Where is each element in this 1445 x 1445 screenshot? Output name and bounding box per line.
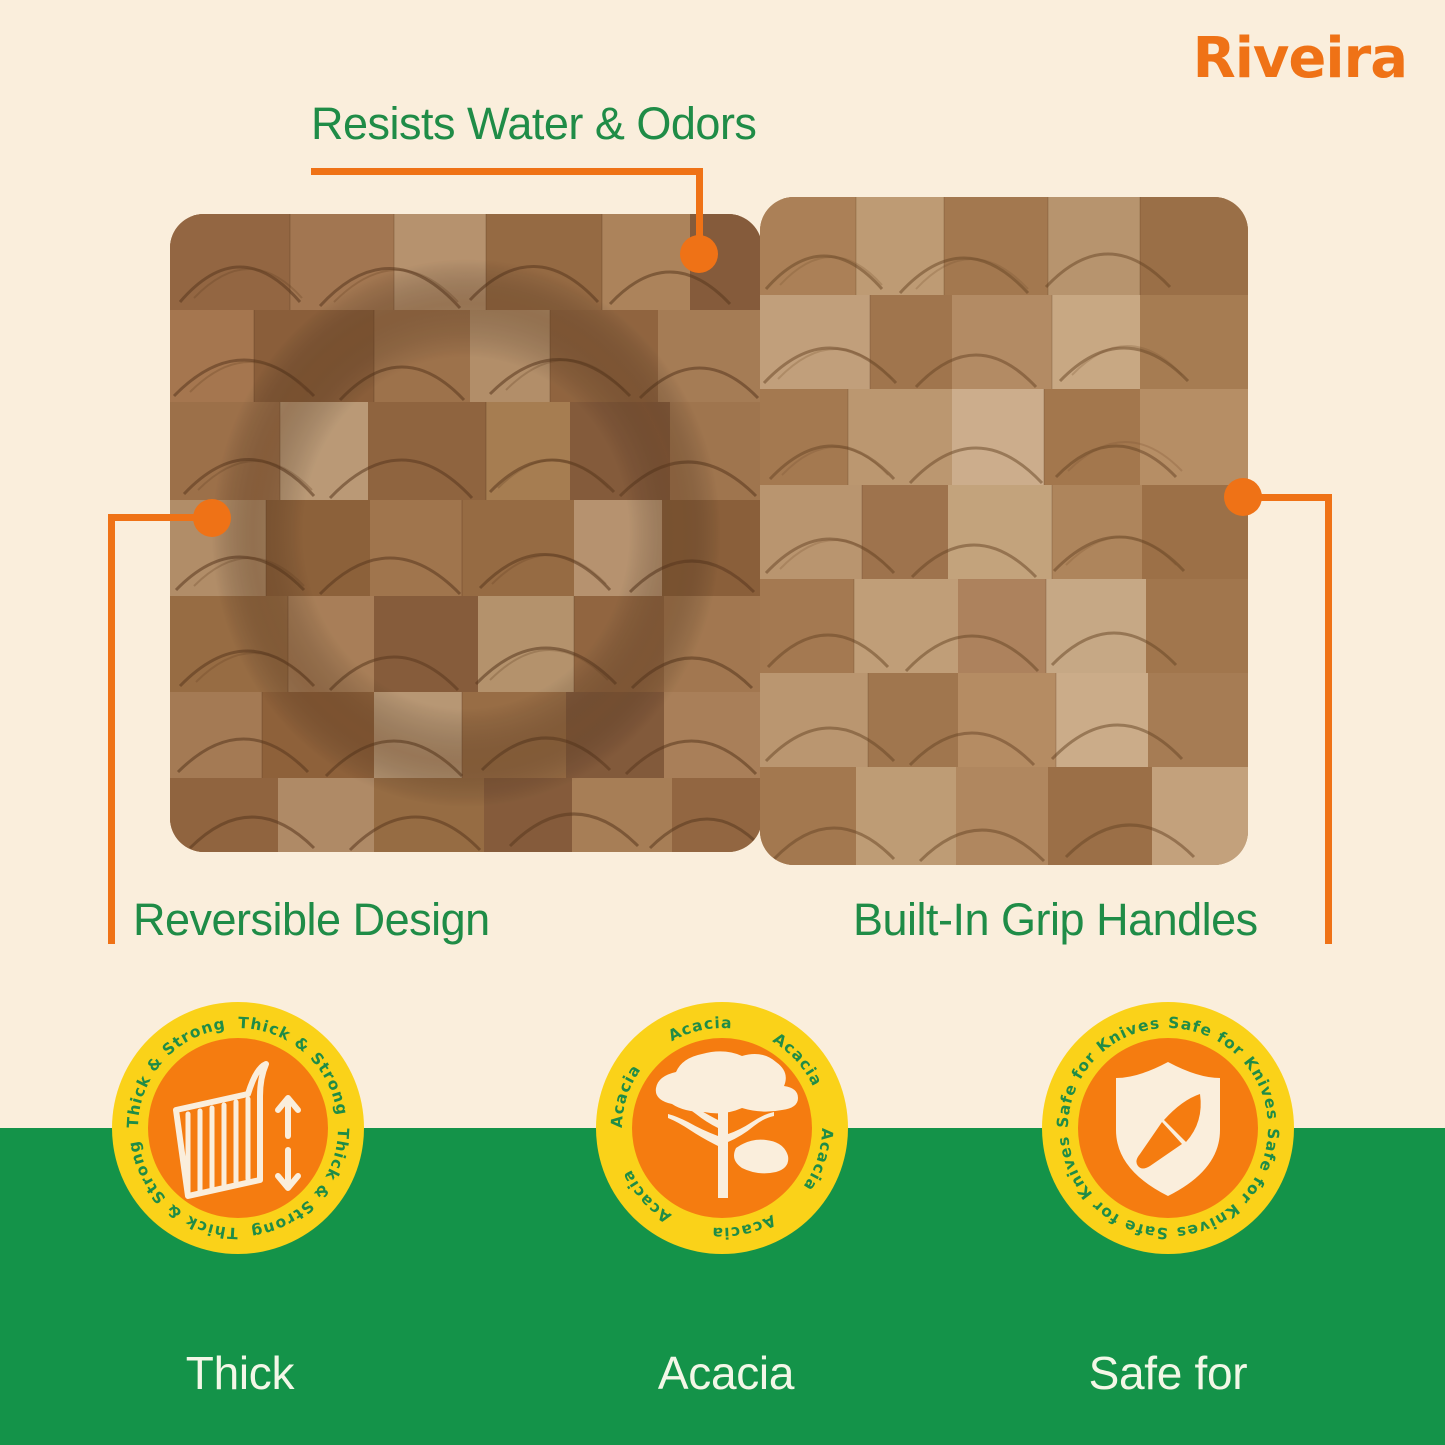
badge-caption-acacia-wood: Acacia Wood (546, 1285, 906, 1445)
acacia-tree-icon (632, 1038, 812, 1218)
badge-inner-disc (148, 1038, 328, 1218)
badge-acacia-wood: Acacia Acacia Acacia Acacia Acacia Acaci… (596, 1002, 848, 1254)
badge-thick-strong: Thick & Strong Thick & Strong Thick & St… (112, 1002, 364, 1254)
callout-dot-right (1224, 478, 1262, 516)
caption-line-1: Thick (60, 1344, 420, 1403)
wood-grain-right (760, 197, 1248, 865)
cutting-board-reverse (760, 197, 1248, 865)
callout-line-right-vertical (1325, 494, 1332, 944)
badge-inner-disc (1078, 1038, 1258, 1218)
callout-line-top-horizontal (311, 168, 703, 175)
badge-caption-safe-for-knives: Safe for Knives (988, 1285, 1348, 1445)
cutting-board-thickness-icon (148, 1038, 328, 1218)
cutting-board-front (170, 214, 762, 852)
wood-grain-left (170, 214, 762, 852)
callout-title-resists-water-odors: Resists Water & Odors (311, 98, 756, 150)
callout-dot-top (680, 235, 718, 273)
callout-dot-left (193, 499, 231, 537)
shield-knife-icon (1078, 1038, 1258, 1218)
callout-title-grip-handles: Built-In Grip Handles (853, 894, 1258, 946)
badge-caption-thick-strong: Thick & Strong (60, 1285, 420, 1445)
callout-line-left-vertical (108, 514, 115, 944)
infographic-stage: Riveira (0, 0, 1445, 1445)
callout-title-reversible-design: Reversible Design (133, 894, 490, 946)
badge-safe-for-knives: Safe for Knives Safe for Knives Safe for… (1042, 1002, 1294, 1254)
brand-logo: Riveira (1193, 26, 1407, 91)
badge-inner-disc (632, 1038, 812, 1218)
caption-line-1: Safe for (988, 1344, 1348, 1403)
caption-line-1: Acacia (546, 1344, 906, 1403)
